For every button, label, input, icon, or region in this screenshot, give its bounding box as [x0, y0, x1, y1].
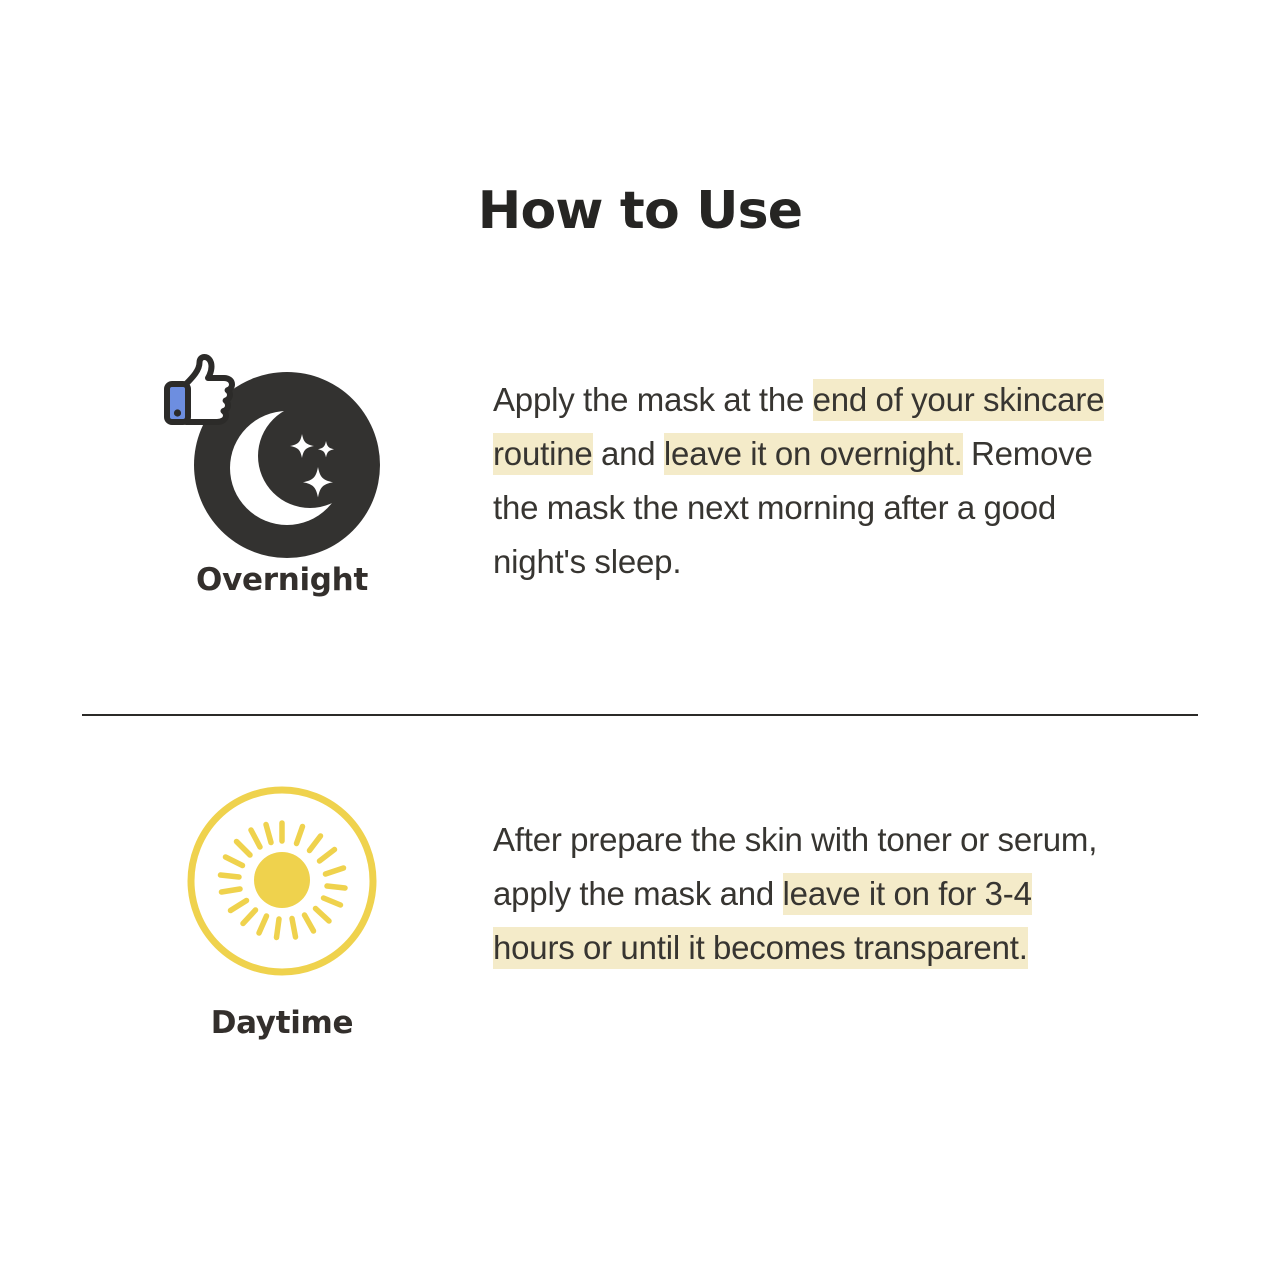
- sun-icon: [184, 783, 380, 979]
- page-title: How to Use: [0, 183, 1280, 240]
- plain-phrase: Apply the mask at the: [493, 381, 813, 418]
- daytime-paragraph: After prepare the skin with toner or ser…: [493, 813, 1113, 975]
- daytime-icon-label: Daytime: [82, 1005, 482, 1041]
- section-divider: [82, 714, 1198, 716]
- plain-phrase: and: [593, 435, 664, 472]
- daytime-text-column: After prepare the skin with toner or ser…: [493, 780, 1113, 1008]
- overnight-paragraph: Apply the mask at the end of your skinca…: [493, 373, 1113, 589]
- overnight-icon-label: Overnight: [82, 562, 482, 598]
- daytime-icon-group: [162, 780, 402, 980]
- how-to-use-page: How to Use: [0, 0, 1280, 1280]
- overnight-icon-column: Overnight: [82, 340, 482, 598]
- overnight-icon-group: [162, 340, 402, 540]
- overnight-text-column: Apply the mask at the end of your skinca…: [493, 340, 1113, 622]
- thumbs-up-icon: [162, 352, 246, 436]
- daytime-icon-column: Daytime: [82, 780, 482, 1041]
- highlighted-phrase: leave it on overnight.: [664, 433, 963, 475]
